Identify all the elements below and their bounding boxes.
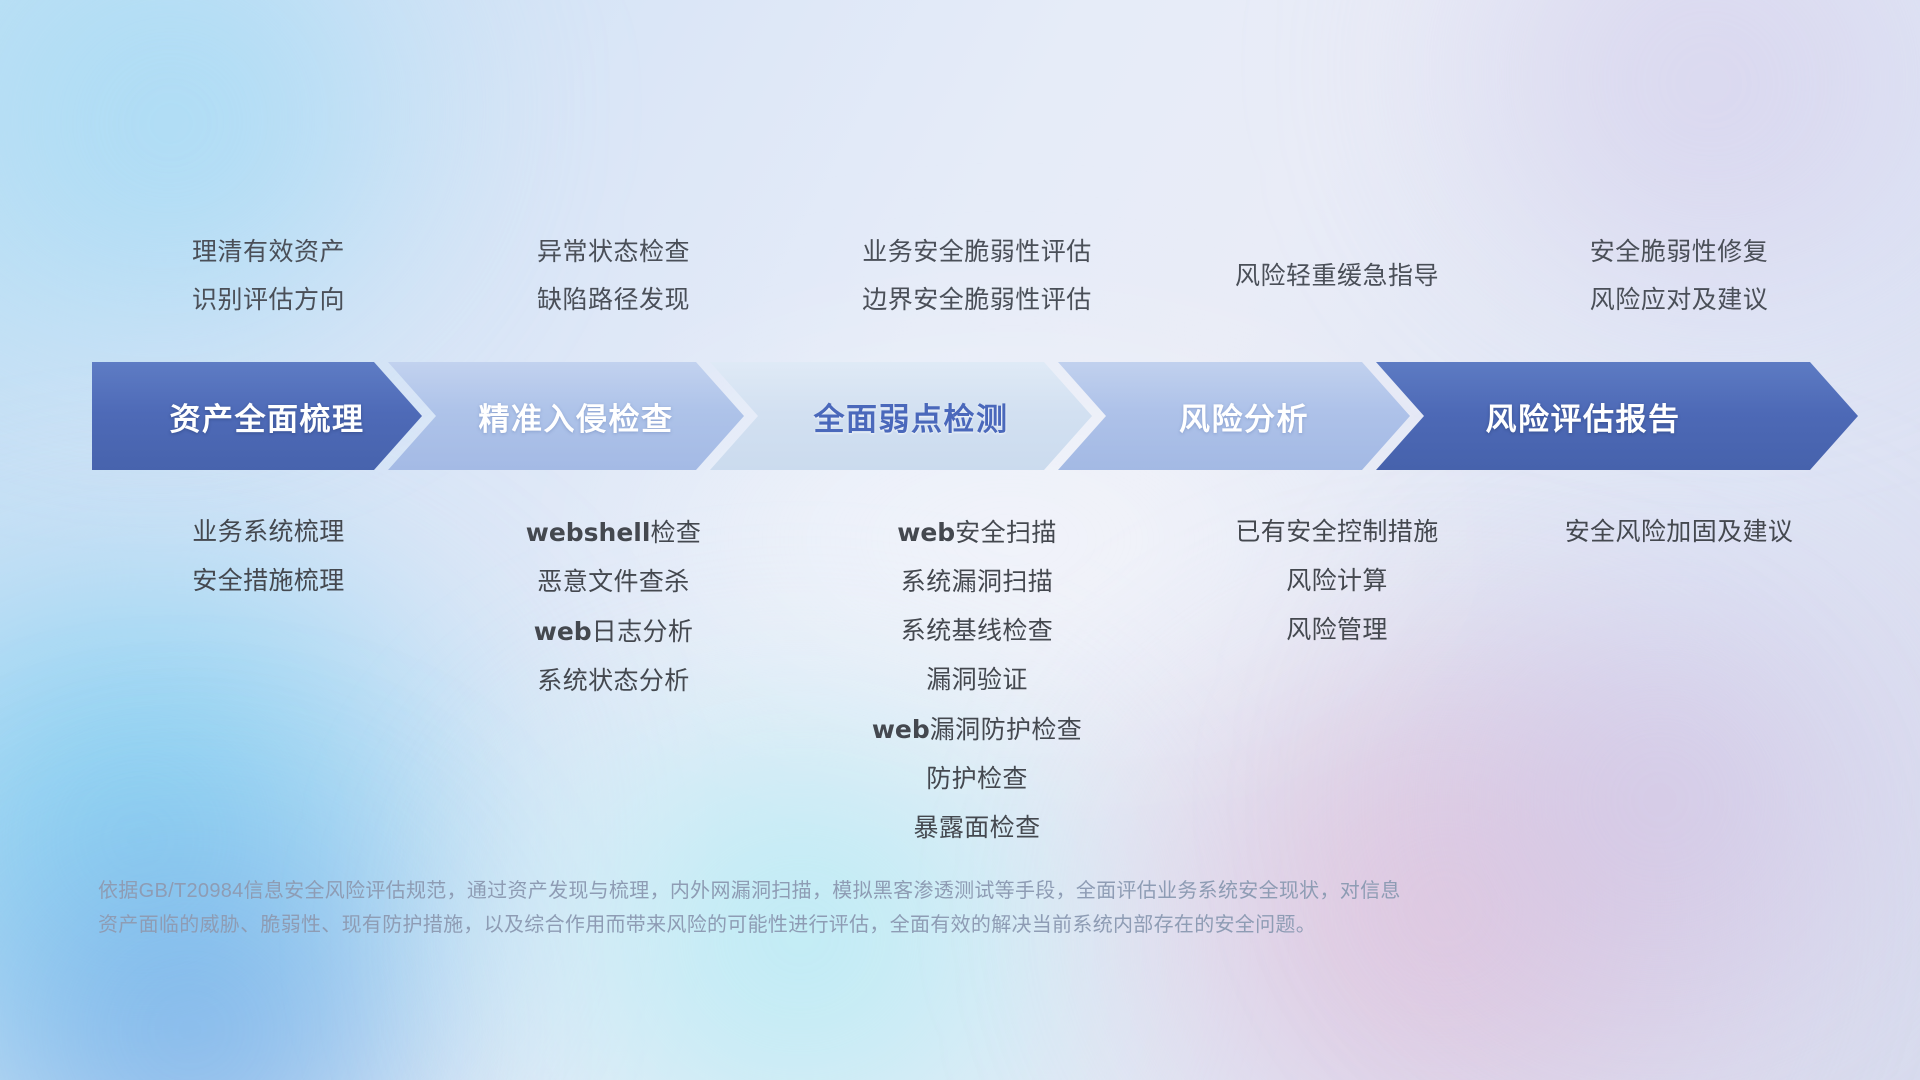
caption-text: 安全脆弱性修复: [1506, 228, 1852, 276]
stage-5-items: 安全风险加固及建议: [1506, 508, 1852, 557]
top-captions-stage-5: 安全脆弱性修复 风险应对及建议: [1506, 228, 1852, 324]
footer-line-2: 资产面临的威胁、脆弱性、现有防护措施，以及综合作用而带来风险的可能性进行评估，全…: [98, 908, 1738, 942]
chevron-stage-2[interactable]: 精准入侵检查: [388, 362, 744, 470]
caption-text: 风险应对及建议: [1506, 276, 1852, 324]
stage-3-items: web安全扫描 系统漏洞扫描 系统基线检查 漏洞验证 web漏洞防护检查 防护检…: [786, 508, 1168, 853]
stage-items-row: 业务系统梳理 安全措施梳理 webshell检查 恶意文件查杀 web日志分析 …: [96, 508, 1852, 853]
caption-text: 缺陷路径发现: [441, 276, 786, 324]
chevron-stage-3-label: 全面弱点检测: [814, 394, 1009, 439]
list-item: 风险计算: [1168, 557, 1506, 606]
caption-text: 业务安全脆弱性评估: [786, 228, 1168, 276]
list-item: 系统状态分析: [441, 657, 786, 706]
chevron-stage-5-label: 风险评估报告: [1486, 394, 1681, 439]
stage-2-items: webshell检查 恶意文件查杀 web日志分析 系统状态分析: [441, 508, 786, 706]
top-captions-stage-3: 业务安全脆弱性评估 边界安全脆弱性评估: [786, 228, 1168, 324]
top-captions-stage-4: 风险轻重缓急指导: [1168, 228, 1506, 300]
list-item: 已有安全控制措施: [1168, 508, 1506, 557]
process-chevron-band: 资产全面梳理 精准入侵检查 全面弱点检测 风险分析 风险评估报告: [92, 362, 1858, 470]
process-diagram: 理清有效资产 识别评估方向 异常状态检查 缺陷路径发现 业务安全脆弱性评估 边界…: [0, 0, 1920, 1080]
list-item: 业务系统梳理: [96, 508, 441, 557]
chevron-stage-3[interactable]: 全面弱点检测: [710, 362, 1092, 470]
list-item: web日志分析: [441, 607, 786, 657]
list-item: 安全措施梳理: [96, 557, 441, 606]
list-item: 暴露面检查: [786, 804, 1168, 853]
caption-text: 边界安全脆弱性评估: [786, 276, 1168, 324]
list-item: web漏洞防护检查: [786, 705, 1168, 755]
list-item: 系统基线检查: [786, 607, 1168, 656]
chevron-stage-2-label: 精准入侵检查: [479, 394, 674, 439]
caption-text: 异常状态检查: [441, 228, 786, 276]
list-item: webshell检查: [441, 508, 786, 558]
chevron-stage-1-label: 资产全面梳理: [170, 394, 365, 439]
top-captions-stage-1: 理清有效资产 识别评估方向: [96, 228, 441, 324]
list-item: 漏洞验证: [786, 656, 1168, 705]
list-item: 恶意文件查杀: [441, 558, 786, 607]
list-item: web安全扫描: [786, 508, 1168, 558]
caption-text: 理清有效资产: [96, 228, 441, 276]
stage-1-items: 业务系统梳理 安全措施梳理: [96, 508, 441, 606]
chevron-stage-4-label: 风险分析: [1179, 394, 1309, 439]
caption-text: 风险轻重缓急指导: [1168, 252, 1506, 300]
footer-line-1: 依据GB/T20984信息安全风险评估规范，通过资产发现与梳理，内外网漏洞扫描，…: [98, 874, 1738, 908]
footer-description: 依据GB/T20984信息安全风险评估规范，通过资产发现与梳理，内外网漏洞扫描，…: [98, 874, 1738, 942]
list-item: 风险管理: [1168, 606, 1506, 655]
top-captions-stage-2: 异常状态检查 缺陷路径发现: [441, 228, 786, 324]
top-captions-row: 理清有效资产 识别评估方向 异常状态检查 缺陷路径发现 业务安全脆弱性评估 边界…: [96, 228, 1852, 324]
chevron-stage-5[interactable]: 风险评估报告: [1376, 362, 1858, 470]
list-item: 系统漏洞扫描: [786, 558, 1168, 607]
caption-text: 识别评估方向: [96, 276, 441, 324]
chevron-stage-1[interactable]: 资产全面梳理: [92, 362, 422, 470]
chevron-stage-4[interactable]: 风险分析: [1058, 362, 1410, 470]
list-item: 防护检查: [786, 755, 1168, 804]
list-item: 安全风险加固及建议: [1506, 508, 1852, 557]
stage-4-items: 已有安全控制措施 风险计算 风险管理: [1168, 508, 1506, 655]
